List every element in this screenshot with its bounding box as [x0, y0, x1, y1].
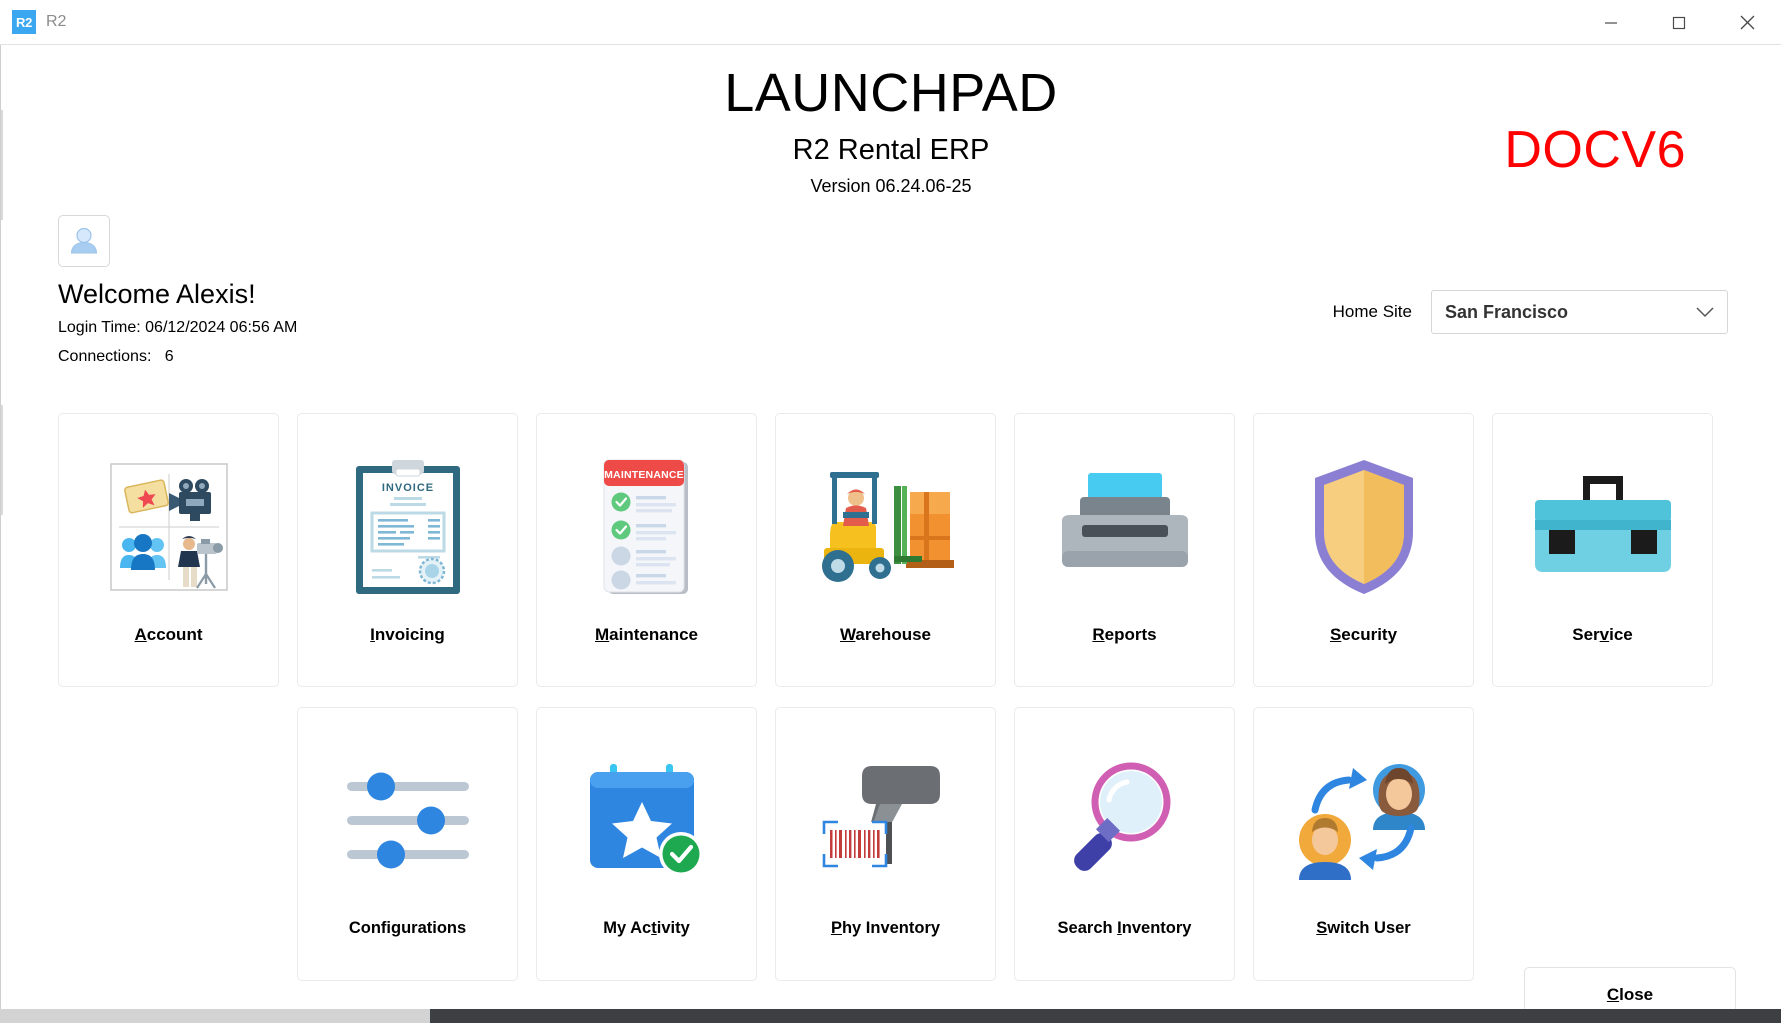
- tile-label: Warehouse: [840, 625, 931, 645]
- close-icon[interactable]: [1713, 0, 1781, 45]
- minimize-icon[interactable]: [1577, 0, 1645, 45]
- tile-row: Account INVOICE: [58, 413, 1726, 687]
- forklift-icon: [806, 444, 966, 609]
- tile-label: Account: [134, 625, 202, 645]
- user-avatar-icon: [67, 224, 101, 258]
- tile-label: Security: [1330, 625, 1397, 645]
- account-grid-icon: [89, 444, 249, 609]
- magnifier-icon: [1045, 738, 1205, 903]
- window-controls: [1577, 0, 1781, 45]
- tile-invoicing[interactable]: INVOICE: [297, 413, 518, 687]
- printer-icon: [1045, 444, 1205, 609]
- app-logo-icon: R2: [12, 10, 36, 34]
- switch-user-icon: [1284, 738, 1444, 903]
- chevron-down-icon: [1696, 307, 1714, 318]
- tile-label: Service: [1572, 625, 1633, 645]
- tile-account[interactable]: Account: [58, 413, 279, 687]
- invoice-clipboard-icon: INVOICE: [328, 444, 488, 609]
- connections-count: Connections: 6: [58, 348, 297, 366]
- tile-label: My Activity: [603, 919, 690, 938]
- tile-security[interactable]: Security: [1253, 413, 1474, 687]
- login-time: Login Time: 06/12/2024 06:56 AM: [58, 319, 297, 337]
- home-site-row: Home Site San Francisco: [1333, 290, 1728, 334]
- calendar-check-icon: [567, 738, 727, 903]
- svg-text:INVOICE: INVOICE: [381, 482, 433, 494]
- horizontal-scrollbar-thumb[interactable]: [0, 1009, 430, 1023]
- tile-my-activity[interactable]: My Activity: [536, 707, 757, 981]
- tile-search-inventory[interactable]: Search Inventory: [1014, 707, 1235, 981]
- tile-switch-user[interactable]: Switch User: [1253, 707, 1474, 981]
- home-site-label: Home Site: [1333, 302, 1412, 322]
- tile-label: Switch User: [1316, 919, 1410, 938]
- tile-label: Phy Inventory: [831, 919, 940, 938]
- tile-row: Configurations: [58, 707, 1726, 981]
- avatar[interactable]: [58, 215, 110, 267]
- tile-reports[interactable]: Reports: [1014, 413, 1235, 687]
- tile-label: Reports: [1092, 625, 1156, 645]
- environment-badge: DOCV6: [1504, 120, 1686, 180]
- maximize-icon[interactable]: [1645, 0, 1713, 45]
- toolbox-icon: [1523, 444, 1683, 609]
- tile-label: Configurations: [349, 919, 466, 938]
- horizontal-scrollbar[interactable]: [0, 1009, 1781, 1023]
- sliders-icon: [328, 738, 488, 903]
- tile-service[interactable]: Service: [1492, 413, 1713, 687]
- close-button-label: Close: [1607, 985, 1653, 1005]
- shield-icon: [1284, 444, 1444, 609]
- tile-phy-inventory[interactable]: Phy Inventory: [775, 707, 996, 981]
- left-edge-mark: [1, 405, 3, 515]
- home-site-select[interactable]: San Francisco: [1431, 290, 1728, 334]
- tile-label: Search Inventory: [1058, 919, 1192, 938]
- tile-maintenance[interactable]: MAINTENANCE: [536, 413, 757, 687]
- title-bar: R2 R2: [0, 0, 1781, 45]
- title-bar-left: R2 R2: [0, 10, 66, 34]
- svg-text:MAINTENANCE: MAINTENANCE: [604, 469, 684, 481]
- tile-configurations[interactable]: Configurations: [297, 707, 518, 981]
- client-area: LAUNCHPAD R2 Rental ERP Version 06.24.06…: [0, 45, 1781, 1023]
- welcome-message: Welcome Alexis!: [58, 279, 297, 310]
- left-edge-mark: [1, 110, 3, 220]
- barcode-scanner-icon: [806, 738, 966, 903]
- maintenance-checklist-icon: MAINTENANCE: [567, 444, 727, 609]
- tile-grid: Account INVOICE: [58, 413, 1726, 981]
- launchpad-window: R2 R2 LAUNCHPAD R2 Rental ERP Version 06…: [0, 0, 1781, 1023]
- tile-label: Maintenance: [595, 625, 698, 645]
- welcome-block: Welcome Alexis! Login Time: 06/12/2024 0…: [58, 215, 297, 366]
- tile-warehouse[interactable]: Warehouse: [775, 413, 996, 687]
- page-title: LAUNCHPAD: [1, 65, 1781, 122]
- tile-label: Invoicing: [370, 625, 445, 645]
- home-site-value: San Francisco: [1445, 302, 1568, 323]
- window-title: R2: [46, 13, 66, 31]
